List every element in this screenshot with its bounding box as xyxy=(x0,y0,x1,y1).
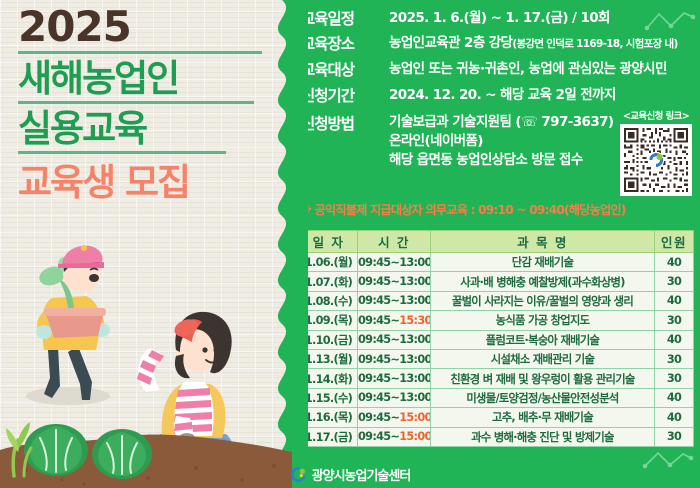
cell-date: 1.07.(화) xyxy=(300,272,358,291)
info-row-schedule: 교육일정 2025. 1. 6.(월) ~ 1. 17.(금) / 10회 xyxy=(297,8,697,31)
cell-date: 1.16.(목) xyxy=(300,408,358,427)
qr-block[interactable]: <교육신청 링크> xyxy=(617,108,695,196)
time-start: 09:45~ xyxy=(358,314,399,327)
time-start: 09:45~ xyxy=(358,256,399,269)
table-row: 1.07.(화)09:45~13:00사과·배 병해충 예찰방제(과수화상병)3… xyxy=(300,272,694,291)
cell-capacity: 40 xyxy=(655,330,694,349)
cell-time: 09:45~15:00 xyxy=(358,408,431,427)
cell-subject: 꿀벌이 사라지는 이유/꿀벌의 영양과 생리 xyxy=(431,291,655,310)
poster-title-line2: 실용교육 xyxy=(18,109,292,148)
cell-capacity: 30 xyxy=(655,427,694,446)
table-row: 1.15.(수)09:45~13:00미생물/토양검정/농산물안전성분석40 xyxy=(300,388,694,407)
cell-subject: 사과·배 병해충 예찰방제(과수화상병) xyxy=(431,272,655,291)
table-row: 1.08.(수)09:45~13:00꿀벌이 사라지는 이유/꿀벌의 영양과 생… xyxy=(300,291,694,310)
table-header-row: 일 자 시 간 과 목 명 인원 xyxy=(300,231,694,253)
cell-time: 09:45~13:00 xyxy=(358,369,431,388)
time-end: 13:00 xyxy=(399,333,430,346)
farmer-with-plant xyxy=(36,245,110,400)
time-end: 13:00 xyxy=(399,275,430,288)
cell-time: 09:45~13:00 xyxy=(358,330,431,349)
time-start: 09:45~ xyxy=(358,372,399,385)
qr-caption: <교육신청 링크> xyxy=(617,108,695,122)
time-end: 13:00 xyxy=(399,372,430,385)
th-subject: 과 목 명 xyxy=(431,231,655,253)
time-end: 15:00 xyxy=(399,411,430,424)
time-end: 15:00 xyxy=(399,430,430,443)
time-start: 09:45~ xyxy=(358,353,399,366)
info-value-apply-period: 2024. 12. 20. ~ 해당 교육 2일 전까지 xyxy=(389,85,697,106)
cell-date: 1.06.(월) xyxy=(300,253,358,272)
table-row: 1.13.(월)09:45~13:00시설채소 재배관리 기술30 xyxy=(300,349,694,368)
schedule-table-wrap: 일 자 시 간 과 목 명 인원 1.06.(월)09:45~13:00단감 재… xyxy=(299,230,693,447)
info-label-schedule: 교육일정 xyxy=(297,8,389,31)
poster-title-line3: 교육생 모집 xyxy=(18,163,292,204)
cell-date: 1.13.(월) xyxy=(300,349,358,368)
th-capacity: 인원 xyxy=(655,231,694,253)
cell-time: 09:45~13:00 xyxy=(358,272,431,291)
cell-capacity: 30 xyxy=(655,369,694,388)
info-row-apply-period: 신청기간 2024. 12. 20. ~ 해당 교육 2일 전까지 xyxy=(297,85,697,108)
cell-capacity: 40 xyxy=(655,291,694,310)
qr-code-icon[interactable] xyxy=(620,124,692,196)
info-label-target: 교육대상 xyxy=(297,59,389,82)
cell-date: 1.09.(목) xyxy=(300,311,358,330)
info-value-schedule: 2025. 1. 6.(월) ~ 1. 17.(금) / 10회 xyxy=(389,8,697,29)
time-end: 13:00 xyxy=(399,256,430,269)
table-row: 1.17.(금)09:45~15:00과수 병해·해충 진단 및 방제기술30 xyxy=(300,427,694,446)
time-start: 09:45~ xyxy=(358,294,399,307)
time-start: 09:45~ xyxy=(358,391,399,404)
time-end: 13:00 xyxy=(399,294,430,307)
time-end: 13:00 xyxy=(399,391,430,404)
footer: 광양시농업기술센터 xyxy=(0,465,700,484)
table-row: 1.09.(목)09:45~15:30농식품 가공 창업지도30 xyxy=(300,311,694,330)
cell-time: 09:45~15:30 xyxy=(358,311,431,330)
cell-capacity: 30 xyxy=(655,349,694,368)
cell-subject: 플럼코트·복숭아 재배기술 xyxy=(431,330,655,349)
cell-date: 1.17.(금) xyxy=(300,427,358,446)
poster-root: 2025 새해농업인 실용교육 교육생 모집 xyxy=(0,0,700,488)
table-row: 1.10.(금)09:45~13:00플럼코트·복숭아 재배기술40 xyxy=(300,330,694,349)
cell-subject: 미생물/토양검정/농산물안전성분석 xyxy=(431,388,655,407)
cell-subject: 과수 병해·해충 진단 및 방제기술 xyxy=(431,427,655,446)
gwangyang-logo-icon xyxy=(290,466,307,483)
cell-capacity: 40 xyxy=(655,408,694,427)
time-end: 15:30 xyxy=(399,314,430,327)
cell-capacity: 40 xyxy=(655,253,694,272)
cell-subject: 시설채소 재배관리 기술 xyxy=(431,349,655,368)
time-start: 09:45~ xyxy=(358,430,399,443)
cell-time: 09:45~13:00 xyxy=(358,349,431,368)
title-block: 2025 새해농업인 실용교육 교육생 모집 xyxy=(0,0,292,204)
info-value-target: 농업인 또는 귀농·귀촌인, 농업에 관심있는 광양시민 xyxy=(389,59,697,80)
cell-date: 1.10.(금) xyxy=(300,330,358,349)
time-end: 13:00 xyxy=(399,353,430,366)
poster-title-line1: 새해농업인 xyxy=(18,59,292,98)
cell-capacity: 40 xyxy=(655,388,694,407)
cell-capacity: 30 xyxy=(655,311,694,330)
info-value-venue: 농업인교육관 2층 강당(봉강면 인덕로 1169-18, 시험포장 내) xyxy=(389,33,697,54)
cell-date: 1.15.(수) xyxy=(300,388,358,407)
time-start: 09:45~ xyxy=(358,411,399,424)
th-time: 시 간 xyxy=(358,231,431,253)
time-start: 09:45~ xyxy=(358,275,399,288)
time-start: 09:45~ xyxy=(358,333,399,346)
schedule-table: 일 자 시 간 과 목 명 인원 1.06.(월)09:45~13:00단감 재… xyxy=(299,230,694,447)
info-label-apply-period: 신청기간 xyxy=(297,85,389,108)
info-row-target: 교육대상 농업인 또는 귀농·귀촌인, 농업에 관심있는 광양시민 xyxy=(297,59,697,82)
venue-address: (봉강면 인덕로 1169-18, 시험포장 내) xyxy=(512,38,677,50)
poster-year: 2025 xyxy=(18,6,292,48)
schedule-table-body: 1.06.(월)09:45~13:00단감 재배기술401.07.(화)09:4… xyxy=(300,253,694,447)
cell-time: 09:45~13:00 xyxy=(358,253,431,272)
table-row: 1.16.(목)09:45~15:00고추, 배추·무 재배기술40 xyxy=(300,408,694,427)
cell-subject: 친환경 벼 재배 및 왕우렁이 활용 관리기술 xyxy=(431,369,655,388)
th-date: 일 자 xyxy=(300,231,358,253)
cell-capacity: 30 xyxy=(655,272,694,291)
venue-main: 농업인교육관 2층 강당 xyxy=(389,35,512,51)
table-row: 1.06.(월)09:45~13:00단감 재배기술40 xyxy=(300,253,694,272)
cell-date: 1.14.(화) xyxy=(300,369,358,388)
title-rule-2 xyxy=(18,101,254,104)
mandatory-education-notice: ※ 공익직불제 지급대상자 의무교육 : 09:10 ~ 09:40(해당농업인… xyxy=(300,200,626,218)
info-label-venue: 교육장소 xyxy=(297,33,389,56)
info-row-venue: 교육장소 농업인교육관 2층 강당(봉강면 인덕로 1169-18, 시험포장 … xyxy=(297,33,697,56)
farmers-illustration xyxy=(0,238,292,488)
footer-organization: 광양시농업기술센터 xyxy=(312,465,411,484)
cell-subject: 고추, 배추·무 재배기술 xyxy=(431,408,655,427)
right-panel: 교육일정 2025. 1. 6.(월) ~ 1. 17.(금) / 10회 교육… xyxy=(292,0,700,488)
cell-time: 09:45~13:00 xyxy=(358,388,431,407)
cell-subject: 농식품 가공 창업지도 xyxy=(431,311,655,330)
title-rule-3 xyxy=(18,151,226,154)
info-label-apply-method: 신청방법 xyxy=(297,113,389,136)
cell-time: 09:45~15:00 xyxy=(358,427,431,446)
cell-subject: 단감 재배기술 xyxy=(431,253,655,272)
cell-time: 09:45~13:00 xyxy=(358,291,431,310)
cell-date: 1.08.(수) xyxy=(300,291,358,310)
title-rule-1 xyxy=(18,51,262,54)
table-row: 1.14.(화)09:45~13:00친환경 벼 재배 및 왕우렁이 활용 관리… xyxy=(300,369,694,388)
